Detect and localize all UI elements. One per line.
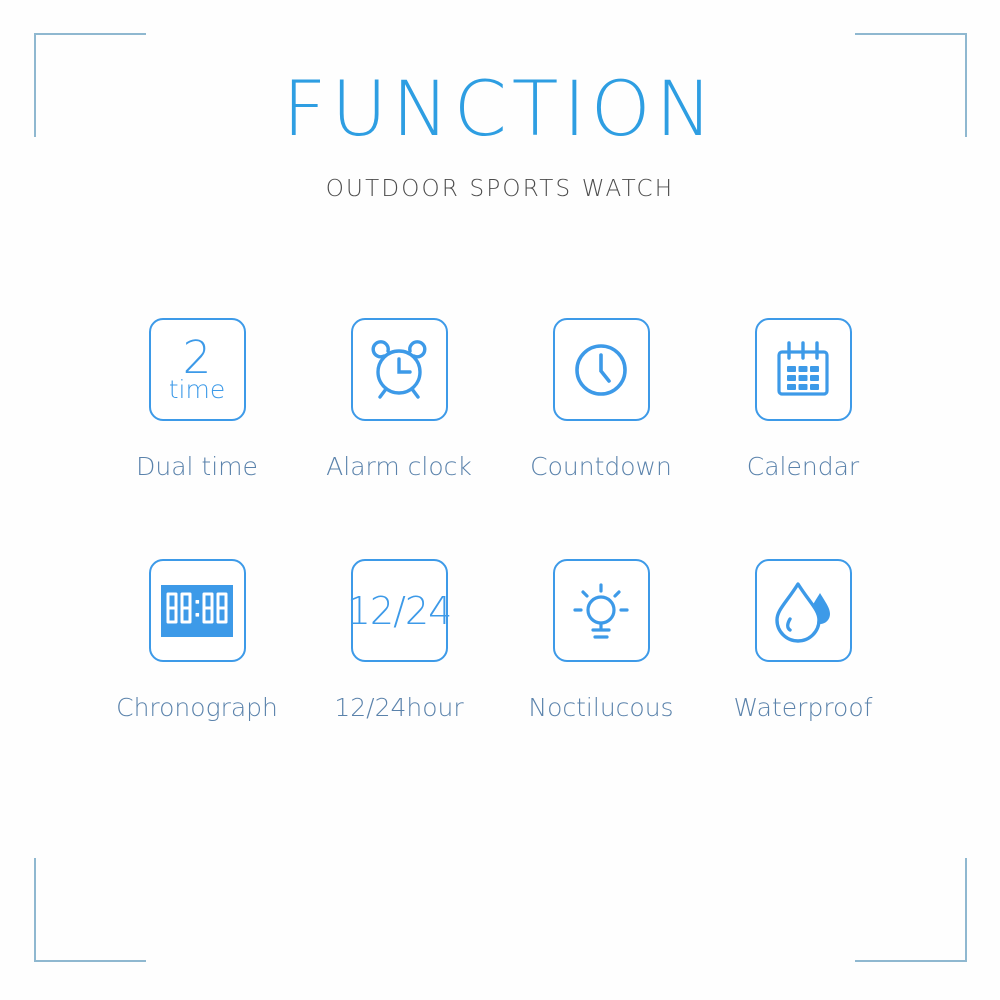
icon-box [553, 318, 650, 421]
corner-bracket-bottom-left [34, 858, 146, 962]
feature-alarm-clock: Alarm clock [298, 318, 500, 482]
feature-label: Dual time [136, 452, 258, 482]
corner-bracket-bottom-right [855, 858, 967, 962]
feature-12-24-hour: 12/24 12/24hour [298, 559, 500, 723]
feature-chronograph: Chronograph [96, 559, 298, 723]
dual-time-icon: 2 time [169, 336, 225, 403]
page-title: FUNCTION [0, 66, 1000, 152]
feature-countdown: Countdown [500, 318, 702, 482]
page-subtitle: OUTDOOR SPORTS WATCH [0, 176, 1000, 202]
digital-display-icon [161, 585, 233, 637]
icon-box [755, 559, 852, 662]
feature-row: Chronograph 12/24 12/24hour [96, 559, 904, 723]
twelve-twentyfour-icon: 12/24 [347, 591, 452, 631]
bracket-line-vertical [965, 858, 967, 962]
alarm-clock-icon [365, 336, 433, 404]
feature-label: Calendar [747, 452, 859, 482]
bracket-line-horizontal [855, 960, 967, 962]
icon-box [755, 318, 852, 421]
bracket-line-horizontal [855, 33, 967, 35]
bracket-line-horizontal [34, 33, 146, 35]
icon-box [351, 318, 448, 421]
feature-noctilucous: Noctilucous [500, 559, 702, 723]
dual-time-word: time [169, 377, 225, 403]
icon-box [149, 559, 246, 662]
feature-waterproof: Waterproof [702, 559, 904, 723]
feature-row: 2 time Dual time [96, 318, 904, 482]
feature-label: Alarm clock [326, 452, 472, 482]
feature-calendar: Calendar [702, 318, 904, 482]
bracket-line-horizontal [34, 960, 146, 962]
feature-label: Chronograph [116, 693, 278, 723]
light-bulb-icon [569, 579, 633, 643]
countdown-clock-icon [569, 338, 633, 402]
function-infographic: FUNCTION OUTDOOR SPORTS WATCH 2 time Dua… [0, 0, 1000, 1000]
feature-label: Countdown [530, 452, 672, 482]
feature-label: 12/24hour [334, 693, 463, 723]
feature-label: Waterproof [734, 693, 873, 723]
dual-time-number: 2 [183, 336, 212, 379]
header: FUNCTION OUTDOOR SPORTS WATCH [0, 66, 1000, 202]
feature-label: Noctilucous [528, 693, 673, 723]
bracket-line-vertical [34, 858, 36, 962]
feature-dual-time: 2 time Dual time [96, 318, 298, 482]
water-droplet-icon [770, 579, 836, 643]
icon-box: 12/24 [351, 559, 448, 662]
icon-box [553, 559, 650, 662]
calendar-icon [771, 338, 835, 402]
feature-grid: 2 time Dual time [96, 318, 904, 723]
icon-box: 2 time [149, 318, 246, 421]
